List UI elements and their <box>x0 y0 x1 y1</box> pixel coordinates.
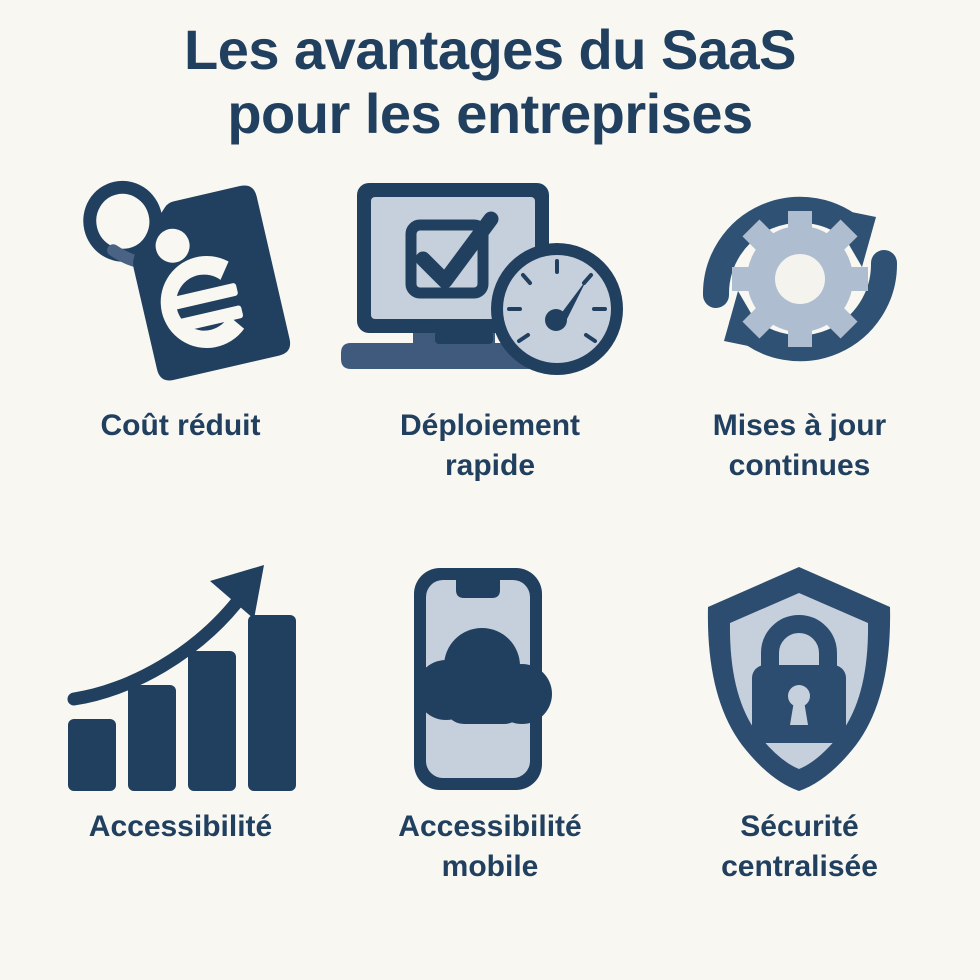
benefit-card-securite-centralisee[interactable]: Sécurité centralisée <box>645 561 954 962</box>
refresh-gear-icon <box>690 171 910 386</box>
benefit-card-accessibilite[interactable]: Accessibilité <box>26 561 335 962</box>
benefit-label-accessibilite-mobile: Accessibilité mobile <box>398 807 581 887</box>
benefit-label-securite-centralisee: Sécurité centralisée <box>721 807 878 887</box>
smartphone-cloud-icon <box>390 562 590 797</box>
icon-container <box>692 561 907 797</box>
benefit-label-deploiement-rapide: Déploiement rapide <box>400 406 580 486</box>
benefit-card-cout-reduit[interactable]: Coût réduit <box>26 160 335 561</box>
benefit-card-accessibilite-mobile[interactable]: Accessibilité mobile <box>335 561 645 962</box>
growth-bar-chart-icon <box>58 559 303 799</box>
laptop-checkmark-gauge-icon <box>335 171 645 386</box>
benefit-label-mises-a-jour-continues: Mises à jour continues <box>713 406 886 486</box>
icon-container <box>58 561 303 797</box>
benefit-label-accessibilite: Accessibilité <box>89 807 272 847</box>
infographic-poster: Les avantages du SaaS pour les entrepris… <box>0 0 980 980</box>
benefit-label-cout-reduit: Coût réduit <box>101 406 261 446</box>
icon-container <box>335 160 645 396</box>
benefit-card-mises-a-jour-continues[interactable]: Mises à jour continues <box>645 160 954 561</box>
icon-container <box>390 561 590 797</box>
icon-container <box>690 160 910 396</box>
benefit-card-deploiement-rapide[interactable]: Déploiement rapide <box>335 160 645 561</box>
title-block: Les avantages du SaaS pour les entrepris… <box>0 0 980 146</box>
shield-lock-icon <box>692 559 907 799</box>
icon-container <box>66 160 296 396</box>
price-tag-euro-icon <box>66 166 296 391</box>
page-title: Les avantages du SaaS pour les entrepris… <box>60 18 920 146</box>
benefits-grid: Coût réduit <box>0 146 980 980</box>
